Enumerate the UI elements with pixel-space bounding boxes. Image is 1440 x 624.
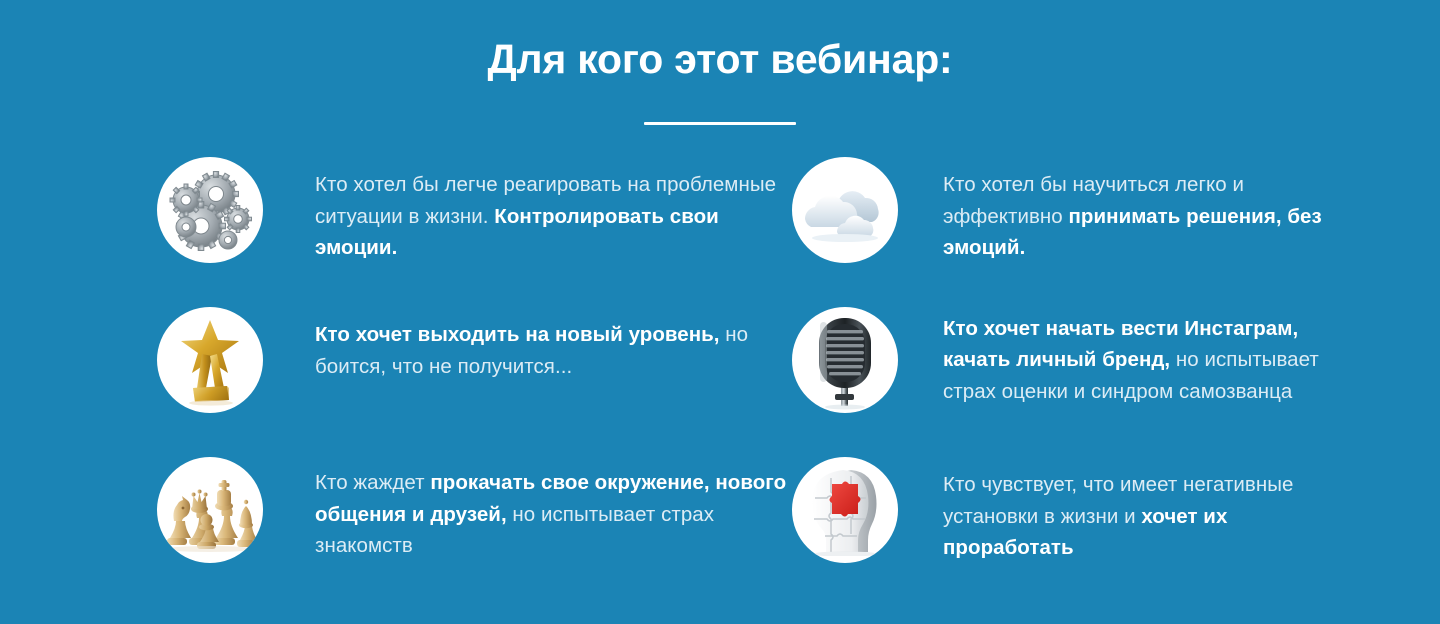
audience-item-text: Кто чувствует, что имеет негативные уста… bbox=[898, 457, 1357, 564]
audience-item-text: Кто хотел бы легче реагировать на пробле… bbox=[263, 157, 792, 264]
audience-item-text: Кто хотел бы научиться легко и эффективн… bbox=[898, 157, 1357, 264]
clouds-icon bbox=[792, 157, 898, 263]
audience-item-text: Кто жаждет прокачать свое окружение, нов… bbox=[263, 457, 792, 562]
gears-icon bbox=[157, 157, 263, 263]
audience-item-text: Кто хочет начать вести Инстаграм, качать… bbox=[898, 313, 1357, 408]
audience-item-2: Кто хочет выходить на новый уровень, но … bbox=[157, 307, 792, 457]
audience-item-3: Кто жаждет прокачать свое окружение, нов… bbox=[157, 457, 792, 607]
audience-item-inner: Кто жаждет прокачать свое окружение, нов… bbox=[157, 457, 792, 563]
audience-items-grid: Кто хотел бы легче реагировать на пробле… bbox=[157, 157, 1357, 607]
chess-pieces-icon bbox=[157, 457, 263, 563]
audience-item-inner: Кто чувствует, что имеет негативные уста… bbox=[792, 457, 1357, 564]
audience-item-inner: Кто хочет начать вести Инстаграм, качать… bbox=[792, 307, 1357, 413]
webinar-audience-section: Для кого этот вебинар: bbox=[0, 0, 1440, 624]
audience-item-inner: Кто хочет выходить на новый уровень, но … bbox=[157, 307, 792, 413]
text-segment: Кто жаждет bbox=[315, 471, 430, 494]
trophy-star-icon bbox=[157, 307, 263, 413]
audience-item-inner: Кто хотел бы легче реагировать на пробле… bbox=[157, 157, 792, 264]
puzzle-head-icon bbox=[792, 457, 898, 563]
audience-item-text: Кто хочет выходить на новый уровень, но … bbox=[263, 307, 792, 382]
audience-item-inner: Кто хотел бы научиться легко и эффективн… bbox=[792, 157, 1357, 264]
title-divider bbox=[644, 122, 796, 125]
text-segment: Кто чувствует, что имеет негативные уста… bbox=[943, 473, 1293, 528]
audience-item-4: Кто хотел бы научиться легко и эффективн… bbox=[792, 157, 1357, 307]
audience-item-1: Кто хотел бы легче реагировать на пробле… bbox=[157, 157, 792, 307]
audience-item-6: Кто чувствует, что имеет негативные уста… bbox=[792, 457, 1357, 607]
page-title: Для кого этот вебинар: bbox=[0, 34, 1440, 84]
audience-item-5: Кто хочет начать вести Инстаграм, качать… bbox=[792, 307, 1357, 457]
section-header: Для кого этот вебинар: bbox=[0, 34, 1440, 125]
microphone-icon bbox=[792, 307, 898, 413]
text-segment-bold: Кто хочет выходить на новый уровень, bbox=[315, 323, 720, 346]
